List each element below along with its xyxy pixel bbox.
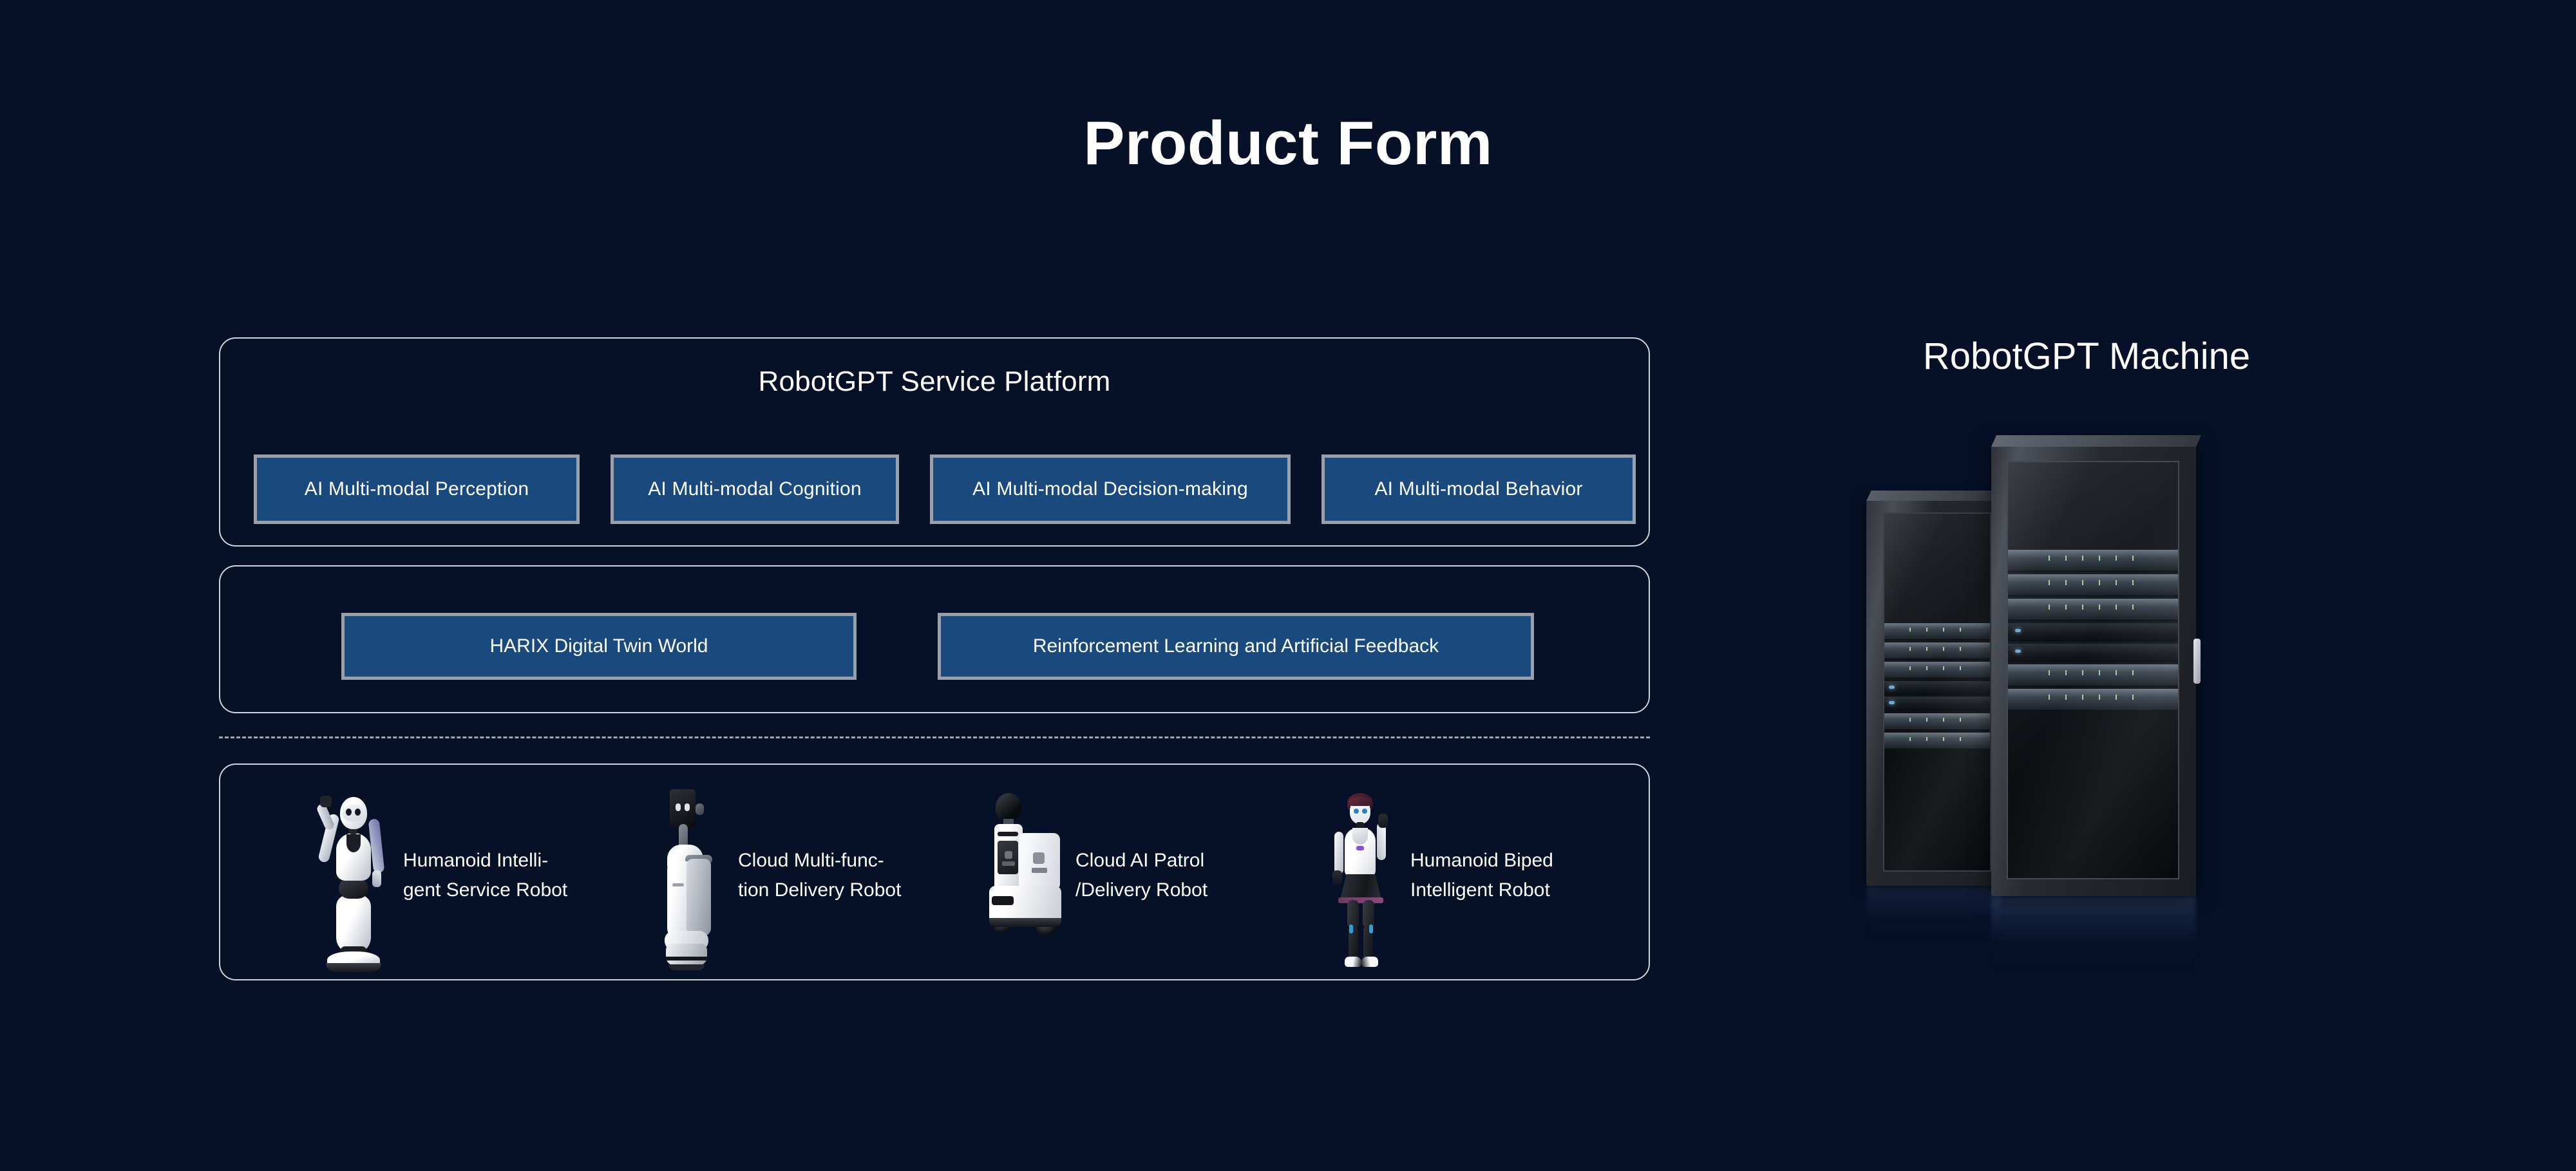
dashed-divider [219,736,1650,738]
humanoid-service-robot-image [304,785,394,966]
machine-title: RobotGPT Machine [1842,335,2331,378]
page-title: Product Form [0,109,2576,178]
cloud-delivery-robot-image [639,785,729,966]
cloud-patrol-robot-image [976,785,1066,966]
harix-digital-twin-button[interactable]: HARIX Digital Twin World [341,613,857,680]
robot-item-humanoid-service: Humanoid Intelli- gent Service Robot [304,782,639,970]
cabinet-glass-door-front [2007,461,2179,879]
service-platform-box: RobotGPT Service Platform AI Multi-modal… [219,337,1650,547]
humanoid-biped-robot-image [1311,785,1401,966]
cabinet-top-back [1866,491,2007,501]
capability-row: AI Multi-modal Perception AI Multi-modal… [254,454,1619,524]
capability-button-decision-making[interactable]: AI Multi-modal Decision-making [930,454,1291,524]
robot-label: Cloud Multi-func- tion Delivery Robot [738,846,901,904]
robot-item-cloud-delivery: Cloud Multi-func- tion Delivery Robot [639,782,976,970]
rack-reflection-front [1991,896,2196,973]
capability-button-perception[interactable]: AI Multi-modal Perception [254,454,580,524]
capability-button-cognition[interactable]: AI Multi-modal Cognition [611,454,899,524]
server-rack-image [1842,412,2331,1030]
robot-item-humanoid-biped: Humanoid Biped Intelligent Robot [1311,782,1633,970]
cabinet-door-handle[interactable] [2193,639,2201,684]
slide-canvas: Product Form RobotGPT Service Platform A… [0,0,2576,1171]
server-cabinet-back [1866,500,2002,886]
robot-item-cloud-patrol: Cloud AI Patrol /Delivery Robot [976,782,1311,970]
server-cabinet-front [1991,445,2196,896]
digital-twin-box: HARIX Digital Twin World Reinforcement L… [219,565,1650,713]
robotgpt-machine-panel: RobotGPT Machine [1842,335,2331,1056]
rack-reflection-back [1866,886,2002,944]
reinforcement-learning-button[interactable]: Reinforcement Learning and Artificial Fe… [938,613,1534,680]
robot-products-box: Humanoid Intelli- gent Service Robot [219,763,1650,980]
robot-label: Humanoid Intelli- gent Service Robot [403,846,567,904]
service-platform-title: RobotGPT Service Platform [220,366,1649,398]
digital-twin-row: HARIX Digital Twin World Reinforcement L… [341,613,1565,680]
robot-label: Humanoid Biped Intelligent Robot [1410,846,1553,904]
cabinet-glass-door-back [1883,512,1991,872]
robot-label: Cloud AI Patrol /Delivery Robot [1075,846,1207,904]
robotgpt-platform-diagram: RobotGPT Service Platform AI Multi-modal… [219,337,1650,968]
robot-row: Humanoid Intelli- gent Service Robot [304,782,1637,970]
capability-button-behavior[interactable]: AI Multi-modal Behavior [1321,454,1636,524]
cabinet-top-front [1991,435,2201,447]
